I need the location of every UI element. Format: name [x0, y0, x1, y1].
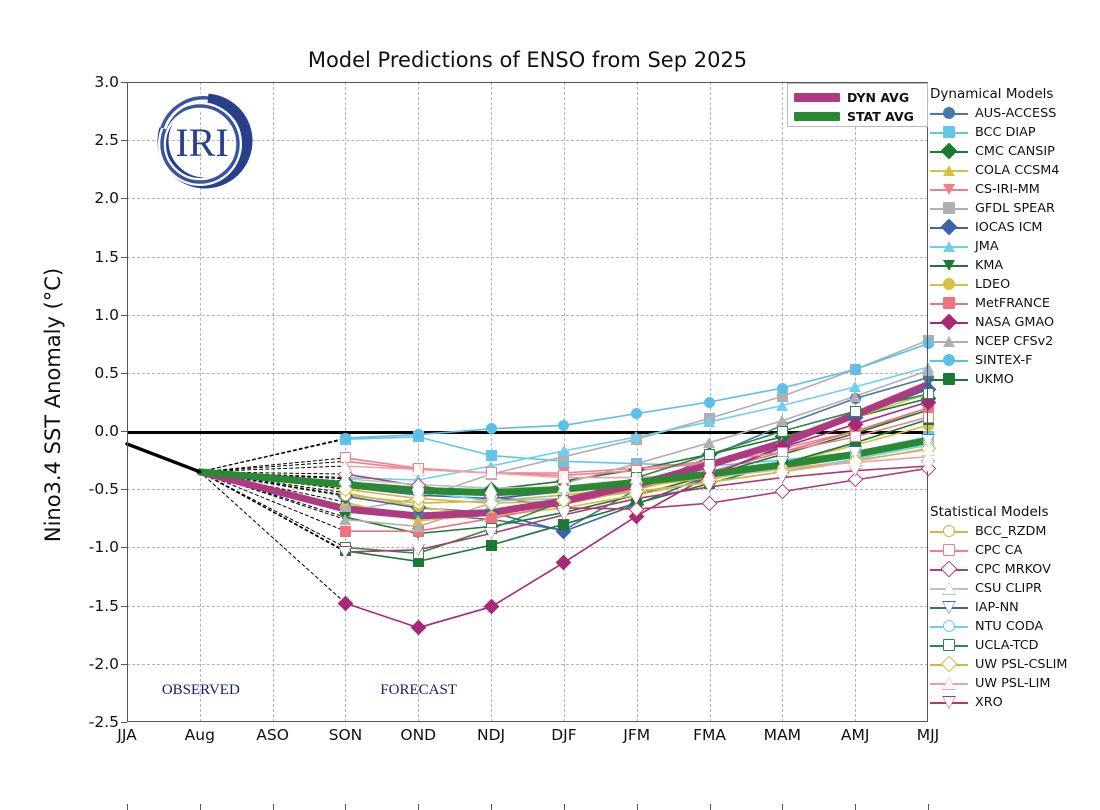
statistical-legend-rows: BCC_RZDMCPC CACPC MRKOVCSU CLIPRIAP-NNNT… — [930, 522, 1067, 712]
marker-XRO — [558, 509, 570, 520]
marker-UCLA-TCD — [923, 388, 934, 399]
legend-label: UKMO — [975, 372, 1014, 387]
x-axis-tick-mark — [127, 804, 128, 810]
legend-diamond-icon — [941, 143, 958, 160]
legend-label: IAP-NN — [975, 600, 1019, 615]
y-axis-tick-mark — [121, 373, 127, 374]
marker-IAP-NN — [558, 486, 570, 497]
iri-logo-icon: IRI — [148, 88, 256, 196]
x-axis-tick-mark — [200, 804, 201, 810]
legend-square-icon — [943, 639, 955, 651]
dynamical-legend-rows: AUS-ACCESSBCC DIAPCMC CANSIPCOLA CCSM4CS… — [930, 104, 1059, 389]
legend-marker-tri-up-icon — [930, 332, 968, 351]
legend-label: CPC MRKOV — [975, 562, 1051, 577]
marker-NCEP CFSv2 — [412, 521, 424, 532]
legend-circle-icon — [943, 620, 955, 632]
legend-tri-dn-icon — [943, 260, 955, 271]
marker-SINTEX-F — [486, 423, 497, 434]
legend-item-cpc-ca[interactable]: CPC CA — [930, 541, 1067, 560]
marker-IAP-NN — [339, 481, 351, 492]
y-axis-tick-mark — [121, 257, 127, 258]
legend-tri-up-icon — [943, 165, 955, 176]
x-axis-tick-label: MJJ — [883, 726, 973, 744]
legend-square-icon — [943, 373, 955, 385]
marker-UW PSL-LIM — [630, 472, 642, 483]
legend-label: UW PSL-LIM — [975, 676, 1050, 691]
marker-IAP-NN — [485, 493, 497, 504]
x-axis-tick-mark — [928, 804, 929, 810]
marker-SINTEX-F — [340, 433, 351, 444]
marker-UW PSL-LIM — [703, 469, 715, 480]
average-legend: DYN AVG STAT AVG — [787, 83, 928, 127]
marker-SINTEX-F — [704, 397, 715, 408]
marker-NCEP CFSv2 — [703, 437, 715, 448]
marker-XRO — [630, 493, 642, 504]
legend-item-cpc-mrkov[interactable]: CPC MRKOV — [930, 560, 1067, 579]
observed-line — [127, 444, 200, 472]
x-axis-tick-mark — [491, 804, 492, 810]
legend-marker-tri-up-icon — [930, 161, 968, 180]
legend-item-iap-nn[interactable]: IAP-NN — [930, 598, 1067, 617]
x-axis-tick-mark — [782, 804, 783, 810]
marker-MetFRANCE — [340, 526, 351, 537]
legend-diamond-icon — [941, 219, 958, 236]
y-axis-tick-label: 3.0 — [59, 73, 119, 91]
legend-marker-circle-icon — [930, 351, 968, 370]
legend-tri-up-icon — [943, 241, 955, 252]
y-axis-tick-mark — [121, 82, 127, 83]
legend-item-cs-iri-mm[interactable]: CS-IRI-MM — [930, 180, 1059, 199]
legend-item-stat-avg: STAT AVG — [794, 107, 921, 126]
marker-UCLA-TCD — [777, 426, 788, 437]
marker-SINTEX-F — [413, 429, 424, 440]
legend-marker-diamond-icon — [930, 313, 968, 332]
plot-annotation: FORECAST — [380, 682, 457, 699]
legend-marker-circle-icon — [930, 617, 968, 636]
legend-label: CMC CANSIP — [975, 144, 1055, 159]
legend-label: BCC DIAP — [975, 125, 1036, 140]
legend-tri-up-icon — [943, 583, 955, 594]
legend-square-icon — [943, 297, 955, 309]
legend-item-ukmo[interactable]: UKMO — [930, 370, 1059, 389]
legend-marker-tri-dn-icon — [930, 693, 968, 712]
y-axis-tick-mark — [121, 664, 127, 665]
legend-label: BCC_RZDM — [975, 524, 1046, 539]
legend-diamond-icon — [941, 656, 958, 673]
dynamical-legend-title: Dynamical Models — [930, 86, 1059, 102]
legend-item-ldeo[interactable]: LDEO — [930, 275, 1059, 294]
marker-JMA — [776, 400, 788, 411]
legend-diamond-icon — [941, 314, 958, 331]
y-axis-tick-mark — [121, 722, 127, 723]
legend-tri-dn-icon — [943, 602, 955, 613]
y-axis-tick-label: -1.0 — [59, 538, 119, 556]
legend-tri-dn-icon — [943, 697, 955, 708]
marker-JMA — [703, 416, 715, 427]
legend-item-ncep-cfsv2[interactable]: NCEP CFSv2 — [930, 332, 1059, 351]
legend-item-csu-clipr[interactable]: CSU CLIPR — [930, 579, 1067, 598]
legend-item-gfdl-spear[interactable]: GFDL SPEAR — [930, 199, 1059, 218]
legend-label: CSU CLIPR — [975, 581, 1042, 596]
legend-marker-circle-icon — [930, 522, 968, 541]
legend-label: MetFRANCE — [975, 296, 1050, 311]
legend-tri-up-icon — [943, 336, 955, 347]
legend-label: UW PSL-CSLIM — [975, 657, 1067, 672]
legend-item-dyn-avg: DYN AVG — [794, 88, 921, 107]
marker-CPC CA — [923, 412, 934, 423]
legend-label: NTU CODA — [975, 619, 1043, 634]
legend-item-bcc-diap[interactable]: BCC DIAP — [930, 123, 1059, 142]
y-axis-tick-mark — [121, 489, 127, 490]
legend-tri-dn-icon — [943, 184, 955, 195]
y-axis-tick-mark — [121, 547, 127, 548]
legend-circle-icon — [943, 278, 955, 290]
legend-item-uw-psl-lim[interactable]: UW PSL-LIM — [930, 674, 1067, 693]
statistical-models-legend: Statistical Models BCC_RZDMCPC CACPC MRK… — [930, 504, 1067, 712]
marker-UCLA-TCD — [704, 449, 715, 460]
marker-MetFRANCE — [486, 513, 497, 524]
dynamical-models-legend: Dynamical Models AUS-ACCESSBCC DIAPCMC C… — [930, 86, 1059, 389]
marker-IAP-NN — [922, 435, 934, 446]
legend-label: KMA — [975, 258, 1003, 273]
y-axis-tick-label: 2.5 — [59, 131, 119, 149]
legend-item-nasa-gmao[interactable]: NASA GMAO — [930, 313, 1059, 332]
y-axis-tick-mark — [121, 198, 127, 199]
marker-UW PSL-LIM — [339, 461, 351, 472]
marker-XRO — [922, 461, 934, 472]
legend-label: CPC CA — [975, 543, 1022, 558]
logo-text: IRI — [175, 120, 228, 165]
legend-label: COLA CCSM4 — [975, 163, 1059, 178]
marker-SINTEX-F — [850, 364, 861, 375]
y-axis-label: Nino3.4 SST Anomaly (°C) — [41, 85, 65, 725]
connector-CPC CA — [200, 458, 346, 472]
legend-marker-tri-dn-icon — [930, 180, 968, 199]
legend-item-cmc-cansip[interactable]: CMC CANSIP — [930, 142, 1059, 161]
y-axis-tick-mark — [121, 431, 127, 432]
marker-UCLA-TCD — [850, 406, 861, 417]
y-axis-tick-label: 0.0 — [59, 422, 119, 440]
legend-item-jma[interactable]: JMA — [930, 237, 1059, 256]
x-axis-tick-mark — [710, 804, 711, 810]
y-axis-tick-label: -1.5 — [59, 597, 119, 615]
dyn-avg-swatch — [794, 93, 840, 102]
legend-marker-tri-up-icon — [930, 237, 968, 256]
legend-item-metfrance[interactable]: MetFRANCE — [930, 294, 1059, 313]
marker-IAP-NN — [412, 490, 424, 501]
legend-marker-tri-dn-icon — [930, 598, 968, 617]
marker-XRO — [412, 544, 424, 555]
marker-XRO — [339, 547, 351, 558]
legend-item-ucla-tcd[interactable]: UCLA-TCD — [930, 636, 1067, 655]
dyn-avg-label: DYN AVG — [847, 90, 909, 105]
x-axis-tick-mark — [418, 804, 419, 810]
marker-NCEP CFSv2 — [776, 415, 788, 426]
legend-label: XRO — [975, 695, 1003, 710]
legend-label: GFDL SPEAR — [975, 201, 1055, 216]
legend-marker-diamond-icon — [930, 560, 968, 579]
legend-tri-up-icon — [943, 678, 955, 689]
y-axis-tick-label: 1.5 — [59, 248, 119, 266]
legend-label: SINTEX-F — [975, 353, 1032, 368]
legend-label: CS-IRI-MM — [975, 182, 1040, 197]
stat-avg-label: STAT AVG — [847, 109, 914, 124]
y-axis-tick-mark — [121, 606, 127, 607]
legend-item-cola-ccsm4[interactable]: COLA CCSM4 — [930, 161, 1059, 180]
legend-item-ntu-coda[interactable]: NTU CODA — [930, 617, 1067, 636]
marker-BCC DIAP — [486, 450, 497, 461]
legend-item-xro[interactable]: XRO — [930, 693, 1067, 712]
chart-root: Model Predictions of ENSO from Sep 2025 … — [0, 0, 1100, 800]
marker-XRO — [703, 481, 715, 492]
legend-item-uw-psl-cslim[interactable]: UW PSL-CSLIM — [930, 655, 1067, 674]
marker-CSU CLIPR — [485, 483, 497, 494]
legend-label: AUS-ACCESS — [975, 106, 1056, 121]
legend-circle-icon — [943, 354, 955, 366]
marker-UW PSL-LIM — [558, 472, 570, 483]
legend-marker-square-icon — [930, 636, 968, 655]
y-axis-tick-label: 1.0 — [59, 306, 119, 324]
legend-circle-icon — [943, 525, 955, 537]
marker-XRO — [776, 472, 788, 483]
marker-UW PSL-LIM — [485, 467, 497, 478]
x-axis-tick-mark — [345, 804, 346, 810]
statistical-legend-title: Statistical Models — [930, 504, 1067, 520]
marker-UKMO — [486, 540, 497, 551]
marker-CSU CLIPR — [412, 479, 424, 490]
legend-marker-square-icon — [930, 123, 968, 142]
plot-annotation: OBSERVED — [162, 682, 240, 699]
legend-label: IOCAS ICM — [975, 220, 1042, 235]
marker-CPC CA — [850, 431, 861, 442]
legend-label: NCEP CFSv2 — [975, 334, 1053, 349]
legend-marker-square-icon — [930, 541, 968, 560]
legend-label: UCLA-TCD — [975, 638, 1039, 653]
legend-diamond-icon — [941, 561, 958, 578]
legend-square-icon — [943, 126, 955, 138]
y-axis-tick-mark — [121, 140, 127, 141]
marker-IAP-NN — [849, 447, 861, 458]
marker-XRO — [849, 465, 861, 476]
marker-NCEP CFSv2 — [339, 514, 351, 525]
legend-marker-square-icon — [930, 370, 968, 389]
legend-marker-tri-dn-icon — [930, 256, 968, 275]
legend-item-iocas-icm[interactable]: IOCAS ICM — [930, 218, 1059, 237]
legend-item-aus-access[interactable]: AUS-ACCESS — [930, 104, 1059, 123]
marker-JMA — [630, 431, 642, 442]
marker-NCEP CFSv2 — [849, 391, 861, 402]
page-title: Model Predictions of ENSO from Sep 2025 — [127, 48, 928, 72]
legend-marker-diamond-icon — [930, 655, 968, 674]
legend-square-icon — [943, 544, 955, 556]
x-axis-tick-mark — [855, 804, 856, 810]
legend-square-icon — [943, 202, 955, 214]
legend-marker-square-icon — [930, 199, 968, 218]
legend-marker-diamond-icon — [930, 218, 968, 237]
legend-marker-tri-up-icon — [930, 579, 968, 598]
legend-item-bcc-rzdm[interactable]: BCC_RZDM — [930, 522, 1067, 541]
marker-JMA — [558, 445, 570, 456]
marker-SINTEX-F — [777, 383, 788, 394]
stat-avg-swatch — [794, 112, 840, 121]
legend-item-kma[interactable]: KMA — [930, 256, 1059, 275]
x-axis-tick-mark — [637, 804, 638, 810]
legend-label: JMA — [975, 239, 999, 254]
marker-CPC CA — [777, 447, 788, 458]
legend-marker-circle-icon — [930, 275, 968, 294]
legend-item-sintex-f[interactable]: SINTEX-F — [930, 351, 1059, 370]
legend-marker-tri-up-icon — [930, 674, 968, 693]
y-axis-tick-mark — [121, 315, 127, 316]
marker-XRO — [485, 528, 497, 539]
x-axis-tick-mark — [273, 804, 274, 810]
legend-label: LDEO — [975, 277, 1010, 292]
y-axis-tick-label: 0.5 — [59, 364, 119, 382]
x-axis-tick-mark — [564, 804, 565, 810]
legend-marker-diamond-icon — [930, 142, 968, 161]
legend-marker-square-icon — [930, 294, 968, 313]
y-axis-tick-label: -0.5 — [59, 480, 119, 498]
legend-marker-circle-icon — [930, 104, 968, 123]
y-axis-tick-label: -2.0 — [59, 655, 119, 673]
legend-circle-icon — [943, 107, 955, 119]
y-axis-tick-label: 2.0 — [59, 189, 119, 207]
marker-UW PSL-LIM — [412, 464, 424, 475]
legend-label: NASA GMAO — [975, 315, 1054, 330]
